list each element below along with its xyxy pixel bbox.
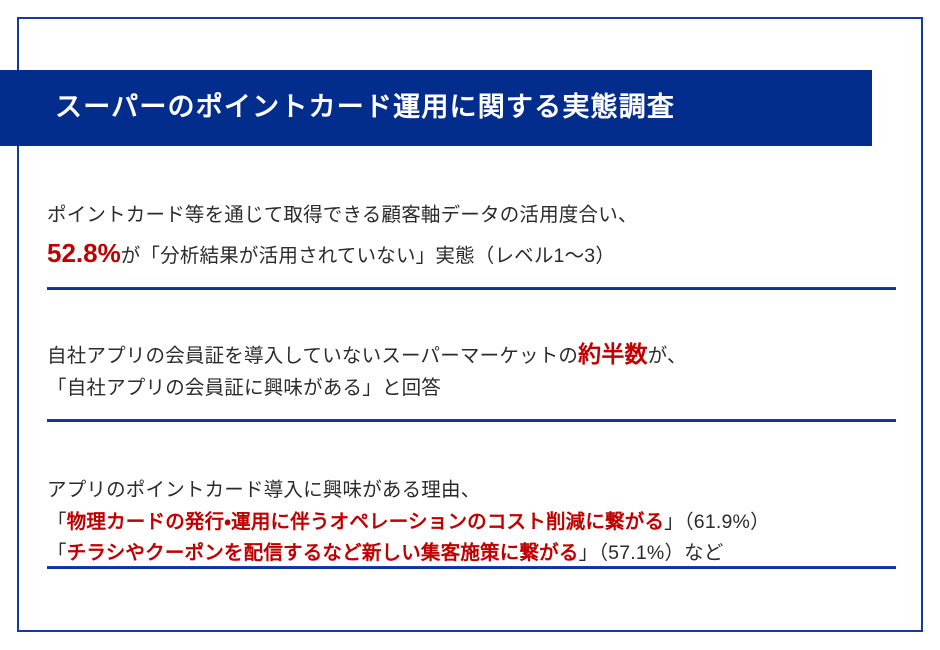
page-title: スーパーのポイントカード運用に関する実態調査 xyxy=(55,93,675,123)
finding-1-line-2-rest: が「分析結果が活用されていない」実態（レベル1〜3） xyxy=(121,245,615,267)
finding-3-divider xyxy=(47,566,896,569)
slide-title-banner: スーパーのポイントカード運用に関する実態調査 xyxy=(0,70,872,146)
finding-1-line-2: 52.8%が「分析結果が活用されていない」実態（レベル1〜3） xyxy=(47,232,896,274)
finding-3-line-3-open-bracket: 「 xyxy=(47,542,67,564)
finding-1-line-1: ポイントカード等を通じて取得できる顧客軸データの活用度合い、 xyxy=(47,200,896,232)
finding-3-line-3-close-bracket: 」 xyxy=(579,542,599,564)
finding-2-stat: 約半数 xyxy=(578,341,648,367)
finding-3-text: アプリのポイントカード導入に興味がある理由、 「物理カードの発行・運用に伴うオペ… xyxy=(47,475,896,570)
finding-3-line-2-open-bracket: 「 xyxy=(47,511,67,533)
finding-2-divider xyxy=(47,419,896,422)
finding-1-text: ポイントカード等を通じて取得できる顧客軸データの活用度合い、 52.8%が「分析… xyxy=(47,200,896,274)
finding-block-1: ポイントカード等を通じて取得できる顧客軸データの活用度合い、 52.8%が「分析… xyxy=(47,200,896,274)
finding-3-line-2: 「物理カードの発行・運用に伴うオペレーションのコスト削減に繋がる」（61.9%） xyxy=(47,507,896,539)
finding-3-reason-1: 物理カードの発行・運用に伴うオペレーションのコスト削減に繋がる xyxy=(67,511,664,533)
finding-2-line-1-pre: 自社アプリの会員証を導入していないスーパーマーケットの xyxy=(47,345,578,367)
finding-1-divider xyxy=(47,287,896,290)
slide-canvas: スーパーのポイントカード運用に関する実態調査 ポイントカード等を通じて取得できる… xyxy=(0,0,940,650)
finding-3-pct-1: （61.9%） xyxy=(684,511,770,533)
finding-3-pct-2: （57.1%） xyxy=(598,542,684,564)
finding-block-2: 自社アプリの会員証を導入していないスーパーマーケットの約半数が、 「自社アプリの… xyxy=(47,336,896,405)
finding-block-3: アプリのポイントカード導入に興味がある理由、 「物理カードの発行・運用に伴うオペ… xyxy=(47,475,896,570)
finding-1-stat: 52.8% xyxy=(47,238,121,268)
finding-3-line-1: アプリのポイントカード導入に興味がある理由、 xyxy=(47,475,896,507)
finding-3-reason-2: チラシやクーポンを配信するなど新しい集客施策に繋がる xyxy=(67,542,579,564)
finding-2-line-2: 「自社アプリの会員証に興味がある」と回答 xyxy=(47,373,896,405)
finding-3-tail: など xyxy=(684,542,723,564)
finding-2-text: 自社アプリの会員証を導入していないスーパーマーケットの約半数が、 「自社アプリの… xyxy=(47,336,896,405)
finding-2-line-1: 自社アプリの会員証を導入していないスーパーマーケットの約半数が、 xyxy=(47,336,896,373)
finding-3-line-3: 「チラシやクーポンを配信するなど新しい集客施策に繋がる」（57.1%）など xyxy=(47,538,896,570)
finding-2-line-1-post: が、 xyxy=(648,345,687,367)
finding-3-line-2-close-bracket: 」 xyxy=(664,511,684,533)
